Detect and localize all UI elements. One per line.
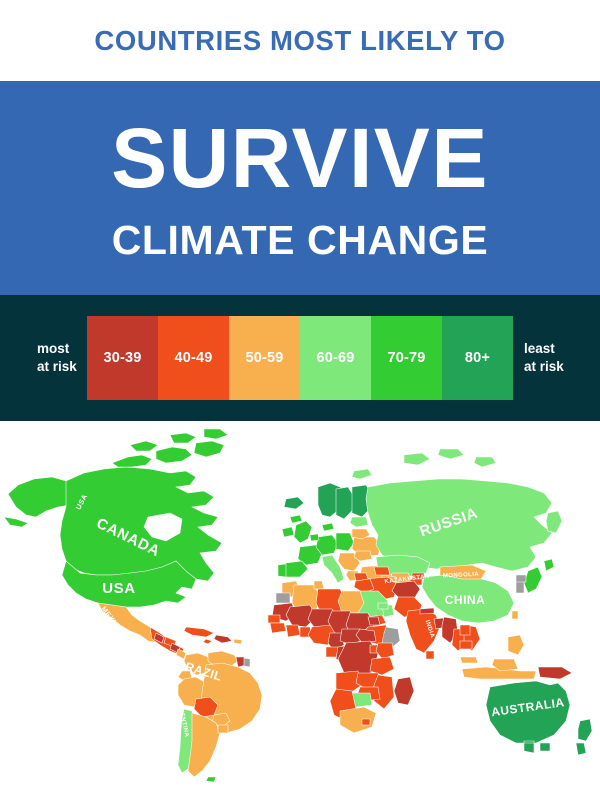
country-canada-arctic[interactable] bbox=[112, 429, 228, 467]
country-baltics[interactable] bbox=[350, 517, 368, 527]
country-suriname[interactable] bbox=[244, 658, 250, 667]
legend-cell-80-plus[interactable]: 80+ bbox=[442, 316, 513, 400]
country-uae[interactable] bbox=[378, 603, 388, 609]
country-tunisia[interactable] bbox=[314, 581, 324, 589]
page-subtitle: CLIMATE CHANGE bbox=[112, 220, 489, 261]
country-guinea[interactable] bbox=[270, 623, 286, 633]
country-portugal[interactable] bbox=[278, 564, 286, 577]
country-puertorico[interactable] bbox=[234, 639, 242, 644]
country-cuba[interactable] bbox=[184, 627, 214, 637]
country-siberia-islands[interactable] bbox=[352, 449, 496, 479]
country-nepal[interactable] bbox=[420, 608, 434, 614]
country-poland[interactable] bbox=[336, 533, 354, 551]
page-title: SURVIVE bbox=[111, 116, 489, 200]
legend-cell-label: 40-49 bbox=[174, 350, 212, 366]
country-madagascar[interactable] bbox=[394, 677, 414, 705]
kicker-text: COUNTRIES MOST LIKELY TO bbox=[94, 27, 505, 55]
country-tasmania[interactable] bbox=[540, 743, 550, 751]
country-uk[interactable] bbox=[290, 515, 312, 543]
legend-caption-most-line2: at risk bbox=[37, 358, 87, 376]
country-tanzania[interactable] bbox=[370, 657, 394, 675]
legend-cell-70-79[interactable]: 70-79 bbox=[371, 316, 442, 400]
country-senegal[interactable] bbox=[268, 615, 280, 623]
map-label-usa: USA bbox=[102, 580, 135, 597]
title-band: SURVIVE CLIMATE CHANGE bbox=[0, 81, 600, 295]
legend-caption-least-line1: least bbox=[524, 340, 581, 358]
country-shapes bbox=[4, 429, 592, 782]
country-kenya[interactable] bbox=[376, 643, 394, 659]
world-map: USACANADAGREENLANDUSAMEXICOBRAZILARGENTI… bbox=[0, 421, 600, 797]
country-jamaica[interactable] bbox=[203, 639, 212, 644]
world-map-svg[interactable]: USACANADAGREENLANDUSAMEXICOBRAZILARGENTI… bbox=[0, 421, 600, 797]
legend: most at risk 30-39 40-49 50-59 60-69 70-… bbox=[0, 295, 600, 421]
country-malaysia[interactable] bbox=[460, 657, 478, 663]
country-denmark[interactable] bbox=[322, 523, 334, 531]
country-falkland[interactable] bbox=[206, 777, 216, 782]
infographic-poster: COUNTRIES MOST LIKELY TO SURVIVE CLIMATE… bbox=[0, 0, 600, 797]
country-ireland[interactable] bbox=[282, 527, 294, 537]
country-srilanka[interactable] bbox=[426, 651, 434, 659]
legend-caption-least-at-risk: least at risk bbox=[513, 340, 581, 376]
country-korea[interactable] bbox=[516, 581, 524, 593]
country-southafrica[interactable] bbox=[340, 707, 376, 733]
country-lesotho[interactable] bbox=[362, 719, 370, 725]
map-label-china: CHINA bbox=[445, 593, 486, 607]
country-hispaniola[interactable] bbox=[214, 635, 232, 643]
country-canada[interactable] bbox=[60, 467, 222, 581]
country-westsahara[interactable] bbox=[276, 593, 290, 603]
legend-cell-label: 70-79 bbox=[387, 350, 425, 366]
legend-cell-50-59[interactable]: 50-59 bbox=[229, 316, 300, 400]
country-cambodia[interactable] bbox=[460, 641, 472, 649]
country-eritrea[interactable] bbox=[368, 617, 380, 625]
country-egypt[interactable] bbox=[338, 591, 364, 613]
legend-cell-label: 60-69 bbox=[316, 350, 354, 366]
country-uruguay[interactable] bbox=[218, 725, 228, 733]
country-newzealand[interactable] bbox=[576, 719, 592, 755]
legend-caption-most-at-risk: most at risk bbox=[19, 340, 87, 376]
country-caucasus[interactable] bbox=[374, 567, 390, 575]
country-argentina[interactable] bbox=[188, 713, 220, 777]
country-ivorycoast[interactable] bbox=[286, 625, 300, 637]
country-northkorea[interactable] bbox=[516, 575, 526, 582]
country-taiwan[interactable] bbox=[512, 611, 518, 619]
legend-cell-30-39[interactable]: 30-39 bbox=[87, 316, 158, 400]
country-iceland[interactable] bbox=[284, 497, 304, 509]
legend-cell-label: 50-59 bbox=[245, 350, 283, 366]
country-gabon[interactable] bbox=[326, 647, 338, 657]
legend-caption-least-line2: at risk bbox=[524, 358, 581, 376]
country-india[interactable] bbox=[406, 609, 440, 653]
legend-scale: 30-39 40-49 50-59 60-69 70-79 80+ bbox=[87, 316, 513, 400]
legend-band: most at risk 30-39 40-49 50-59 60-69 70-… bbox=[0, 295, 600, 421]
legend-cell-label: 80+ bbox=[465, 350, 490, 366]
legend-cell-label: 30-39 bbox=[103, 350, 141, 366]
map-label-greenland: GREENLAND bbox=[234, 491, 258, 541]
country-kamchatka[interactable] bbox=[546, 511, 562, 533]
legend-cell-60-69[interactable]: 60-69 bbox=[300, 316, 371, 400]
kicker-band: COUNTRIES MOST LIKELY TO bbox=[0, 0, 600, 81]
country-netherlands[interactable] bbox=[310, 534, 319, 541]
country-philippines[interactable] bbox=[508, 635, 524, 655]
country-laos[interactable] bbox=[460, 625, 470, 635]
legend-cell-40-49[interactable]: 40-49 bbox=[158, 316, 229, 400]
country-papua[interactable] bbox=[538, 667, 572, 679]
legend-caption-most-line1: most bbox=[37, 340, 87, 358]
country-sweden[interactable] bbox=[336, 487, 354, 519]
